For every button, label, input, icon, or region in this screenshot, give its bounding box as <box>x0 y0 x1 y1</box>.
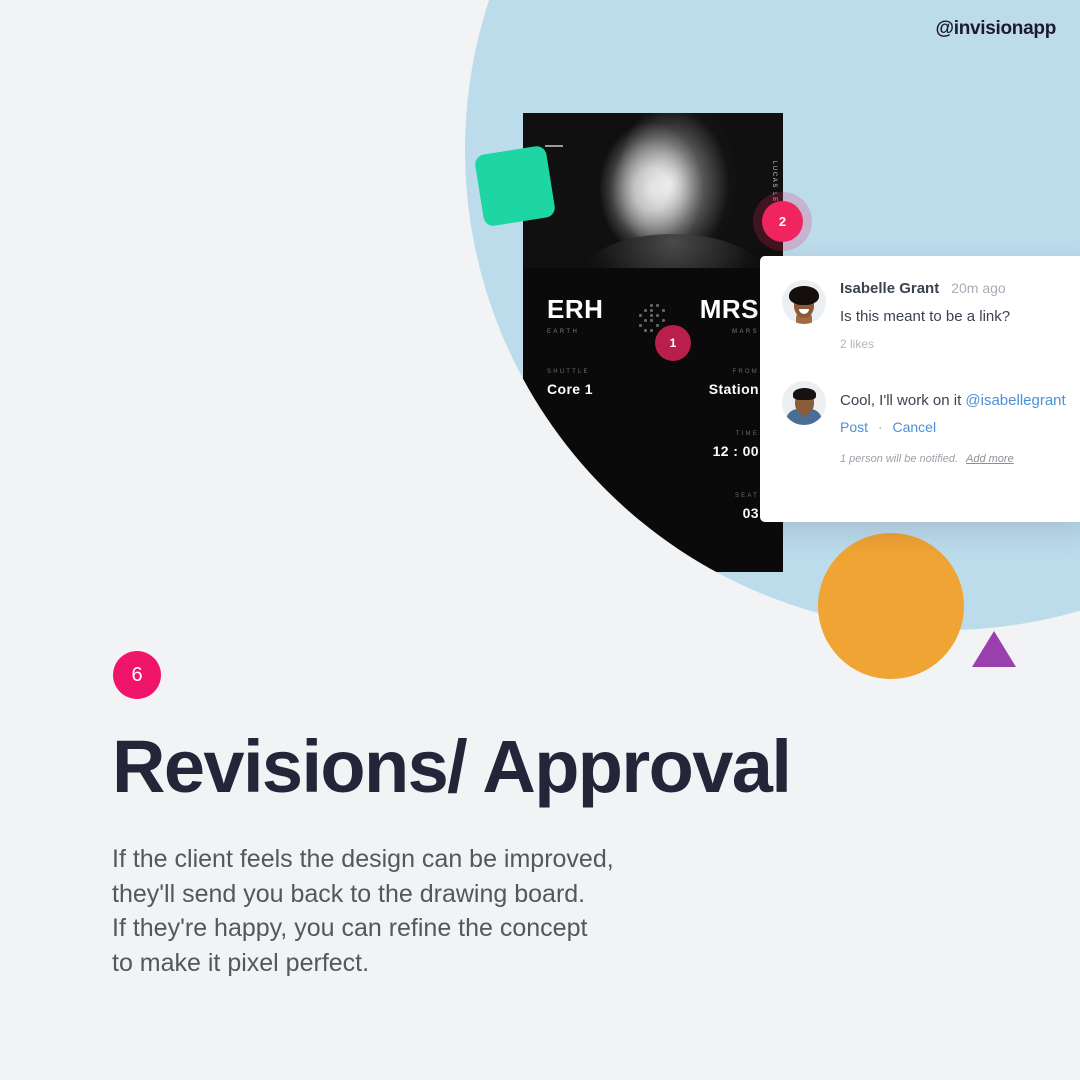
comment-item: Isabelle Grant 20m ago Is this meant to … <box>782 280 1068 351</box>
origin-code: ERH <box>547 296 603 322</box>
comment-likes[interactable]: 2 likes <box>840 337 1068 351</box>
comment-thread-card: Isabelle Grant 20m ago Is this meant to … <box>760 256 1080 522</box>
comment-pin-2[interactable]: 2 <box>762 201 803 242</box>
detail-row-3: SEAT 03 <box>523 459 783 521</box>
notify-text: 1 person will be notified. <box>840 453 958 465</box>
app-mockup-card: LUCAS LEBLANC ERH EARTH MRS <box>523 113 783 572</box>
detail-seat: SEAT 03 <box>735 493 759 521</box>
comment-timestamp: 20m ago <box>951 280 1005 296</box>
destination-name: MARS <box>700 329 759 335</box>
detail-label: SEAT <box>735 493 759 499</box>
rocket-nose <box>655 555 665 572</box>
detail-label: SHUTTLE <box>547 369 593 375</box>
brand-handle: @invisionapp <box>936 18 1057 40</box>
route-origin: ERH EARTH <box>547 296 603 335</box>
comment-body: Isabelle Grant 20m ago Is this meant to … <box>840 280 1068 351</box>
comment-pin-1[interactable]: 1 <box>655 325 691 361</box>
menu-icon[interactable] <box>545 145 563 147</box>
rocket-illustration <box>654 555 666 572</box>
action-separator: · <box>878 419 883 435</box>
route-destination: MRS MARS <box>700 296 759 335</box>
detail-value: 12 : 00 <box>713 443 759 459</box>
decorative-purple-triangle <box>972 631 1016 667</box>
post-button[interactable]: Post <box>840 419 868 435</box>
detail-from: FROM Station <box>709 369 759 397</box>
detail-row-2: TIME 12 : 00 <box>523 397 783 459</box>
comment-reply-item: Cool, I'll work on it @isabellegrant Pos… <box>782 381 1068 466</box>
reply-text: Cool, I'll work on it <box>840 392 965 409</box>
comment-text: Is this meant to be a link? <box>840 307 1068 327</box>
detail-value: 03 <box>735 505 759 521</box>
reply-body: Cool, I'll work on it @isabellegrant Pos… <box>840 381 1068 466</box>
avatar[interactable] <box>782 280 826 324</box>
page-title: Revisions/ Approval <box>112 724 790 809</box>
destination-code: MRS <box>700 296 759 322</box>
route-row: ERH EARTH MRS MARS <box>523 268 783 335</box>
detail-value: Station <box>709 381 759 397</box>
detail-shuttle: SHUTTLE Core 1 <box>547 369 593 397</box>
mockup-hero-photo: LUCAS LEBLANC <box>523 113 783 268</box>
comment-author: Isabelle Grant <box>840 280 939 297</box>
detail-value: Core 1 <box>547 381 593 397</box>
notify-notice: 1 person will be notified.Add more <box>840 453 1068 465</box>
mockup-body: ERH EARTH MRS MARS SHUT <box>523 268 783 521</box>
detail-label: TIME <box>713 431 759 437</box>
decorative-teal-square <box>474 145 556 227</box>
reply-draft-text[interactable]: Cool, I'll work on it @isabellegrant <box>840 391 1068 411</box>
mention-chip[interactable]: @isabellegrant <box>965 392 1065 409</box>
add-more-button[interactable]: Add more <box>966 453 1014 465</box>
origin-name: EARTH <box>547 329 603 335</box>
step-number-badge: 6 <box>113 651 161 699</box>
comment-header: Isabelle Grant 20m ago <box>840 280 1068 297</box>
body-paragraph: If the client feels the design can be im… <box>112 842 614 980</box>
detail-label: FROM <box>709 369 759 375</box>
detail-time: TIME 12 : 00 <box>713 431 759 459</box>
detail-row-1: SHUTTLE Core 1 FROM Station <box>523 335 783 397</box>
cancel-button[interactable]: Cancel <box>892 419 936 435</box>
reply-actions: Post · Cancel <box>840 419 1068 435</box>
avatar[interactable] <box>782 381 826 425</box>
